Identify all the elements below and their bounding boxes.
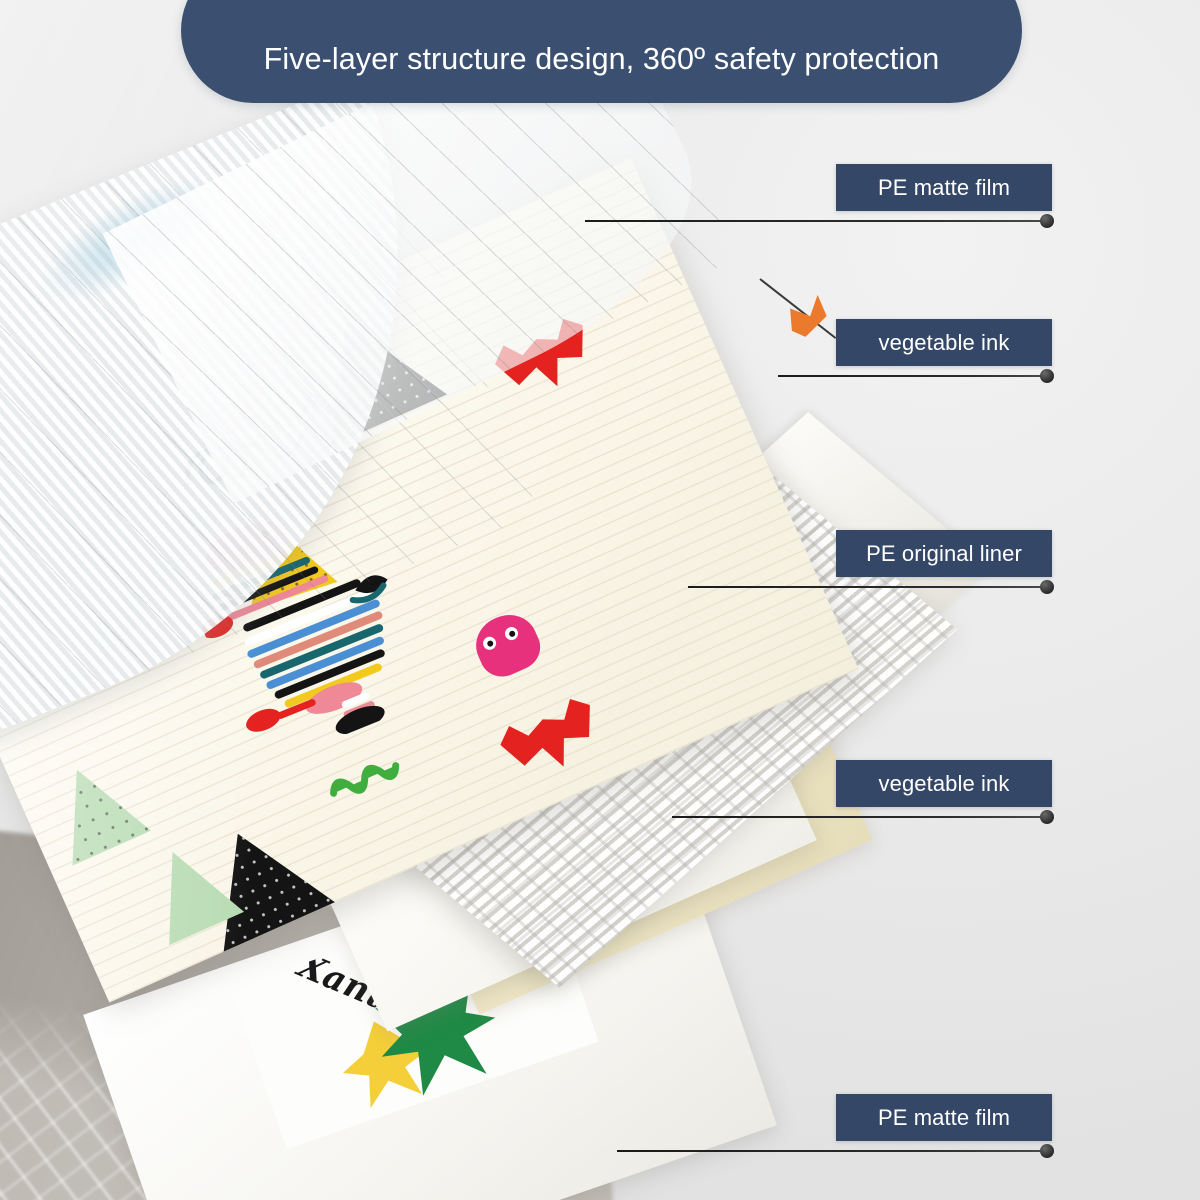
callout-pe-original-liner[interactable]: PE original liner: [688, 530, 1052, 600]
owl-eye: [481, 635, 498, 652]
pink-owl-shape: [467, 606, 547, 684]
callout-label-box[interactable]: PE matte film: [836, 1094, 1052, 1141]
callout-leader-line: [617, 1150, 1052, 1152]
infographic-stage: Xanth: [0, 0, 1200, 1200]
callout-label-text: vegetable ink: [879, 771, 1010, 797]
green-squiggle-graphic: [321, 737, 420, 807]
callout-label-box[interactable]: PE matte film: [836, 164, 1052, 211]
callout-leader-line: [672, 816, 1052, 818]
callout-endpoint-dot: [1040, 1144, 1054, 1158]
callout-leader-line: [585, 220, 1052, 222]
callout-pe-matte-film-bottom[interactable]: PE matte film: [617, 1094, 1052, 1164]
callout-label-text: PE matte film: [878, 175, 1010, 201]
callout-endpoint-dot: [1040, 214, 1054, 228]
mint-tree-shape: [135, 835, 244, 945]
callout-pe-matte-film-top[interactable]: PE matte film: [585, 164, 1052, 234]
callout-label-box[interactable]: vegetable ink: [836, 319, 1052, 366]
callout-endpoint-dot: [1040, 810, 1054, 824]
header-banner: Five-layer structure design, 360º safety…: [181, 0, 1022, 103]
callout-leader-line: [778, 375, 1052, 377]
callout-label-text: vegetable ink: [879, 330, 1010, 356]
callout-endpoint-dot: [1040, 580, 1054, 594]
callout-label-text: PE original liner: [866, 541, 1022, 567]
callout-vegetable-ink-lower[interactable]: vegetable ink: [672, 760, 1052, 830]
callout-endpoint-dot: [1040, 369, 1054, 383]
callout-label-box[interactable]: vegetable ink: [836, 760, 1052, 807]
callout-vegetable-ink-upper[interactable]: vegetable ink: [778, 319, 1052, 389]
callout-label-box[interactable]: PE original liner: [836, 530, 1052, 577]
banner-title: Five-layer structure design, 360º safety…: [264, 42, 940, 77]
callout-leader-line: [688, 586, 1052, 588]
owl-eye: [503, 625, 520, 642]
callout-label-text: PE matte film: [878, 1105, 1010, 1131]
mint-tree-shape: [38, 752, 152, 866]
